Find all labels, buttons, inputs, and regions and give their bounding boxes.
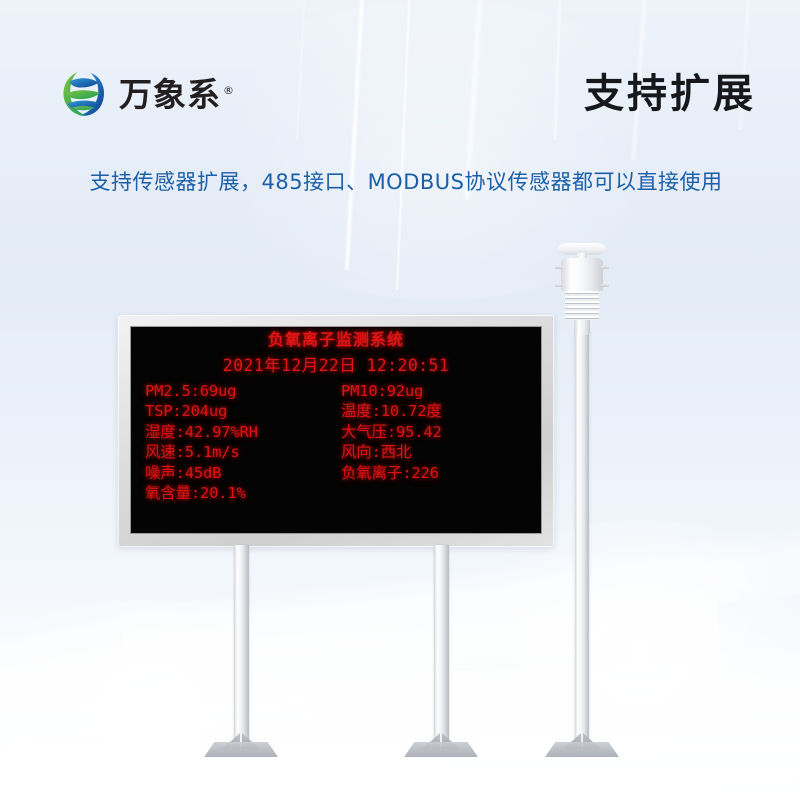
headline-subtitle: 支持传感器扩展，485接口、MODBUS协议传感器都可以直接使用 [50,166,762,196]
billboard-left-leg [234,545,249,745]
led-reading-humidity: 湿度:42.97%RH [145,422,341,442]
mast-base-plate [545,733,619,759]
led-reading-row: PM2.5:69ug PM10:92ug [145,381,531,401]
brand-logo: 万象系® [58,68,235,120]
led-reading-row: 湿度:42.97%RH 大气压:95.42 [145,422,531,442]
led-reading-pressure: 大气压:95.42 [341,422,531,442]
led-billboard: 负氧离子监测系统 2021年12月22日 12:20:51 PM2.5:69ug… [118,315,554,547]
led-reading-oxygen-content: 氧含量:20.1% [145,483,341,503]
sensor-radiation-shield [565,291,599,321]
light-streak [395,0,413,290]
globe-swirl-logo-icon [58,68,110,120]
led-reading-row: TSP:204ug 温度:10.72度 [145,401,531,421]
led-reading-row: 氧含量:20.1% [145,483,531,503]
led-screen-title: 负氧离子监测系统 [131,332,541,349]
led-reading-empty [341,483,531,503]
registered-trademark-mark: ® [223,84,235,97]
sensor-transducer-arm [555,266,563,269]
led-reading-temperature: 温度:10.72度 [341,401,531,421]
light-streak [343,0,367,270]
sensor-transducer-arm [555,284,563,287]
left-leg-base-plate [204,733,278,759]
sensor-neck [574,320,590,335]
led-screen-datetime: 2021年12月22日 12:20:51 [131,352,541,376]
led-reading-wind-speed: 风速:5.1m/s [145,442,341,462]
led-reading-wind-direction: 风向:西北 [341,442,531,462]
led-reading-row: 风速:5.1m/s 风向:西北 [145,442,531,462]
led-reading-tsp: TSP:204ug [145,401,341,421]
right-leg-base-plate [404,733,478,759]
background-glow [0,600,360,800]
base-plate [204,742,278,757]
base-plate [545,742,619,757]
led-reading-noise: 噪声:45dB [145,463,341,483]
light-streak [553,0,565,140]
light-streak [296,0,308,140]
brand-name: 万象系® [119,78,235,111]
led-reading-negative-oxygen-ion: 负氧离子:226 [341,463,531,483]
sensor-transducer-arm [601,266,609,269]
brand-name-text: 万象系 [119,75,221,114]
led-reading-pm10: PM10:92ug [341,381,531,401]
led-reading-pm25: PM2.5:69ug [145,381,341,401]
sensor-mast-pole [575,330,589,745]
background-glow [180,0,700,300]
ground-sweep [0,561,724,759]
led-readings-grid: PM2.5:69ug PM10:92ug TSP:204ug 温度:10.72度… [131,381,541,504]
ground-sweep [0,700,800,800]
sensor-body [561,258,603,291]
billboard-right-leg [434,545,449,745]
product-promo-image: 万象系® 支持扩展 支持传感器扩展，485接口、MODBUS协议传感器都可以直接… [0,0,800,800]
sensor-transducer-arm [601,284,609,287]
ground-sweep [0,636,800,784]
headline-title: 支持扩展 [584,74,756,114]
base-plate [404,742,478,757]
ultrasonic-weather-sensor [552,243,612,335]
led-reading-row: 噪声:45dB 负氧离子:226 [145,463,531,483]
led-screen: 负氧离子监测系统 2021年12月22日 12:20:51 PM2.5:69ug… [130,326,542,534]
